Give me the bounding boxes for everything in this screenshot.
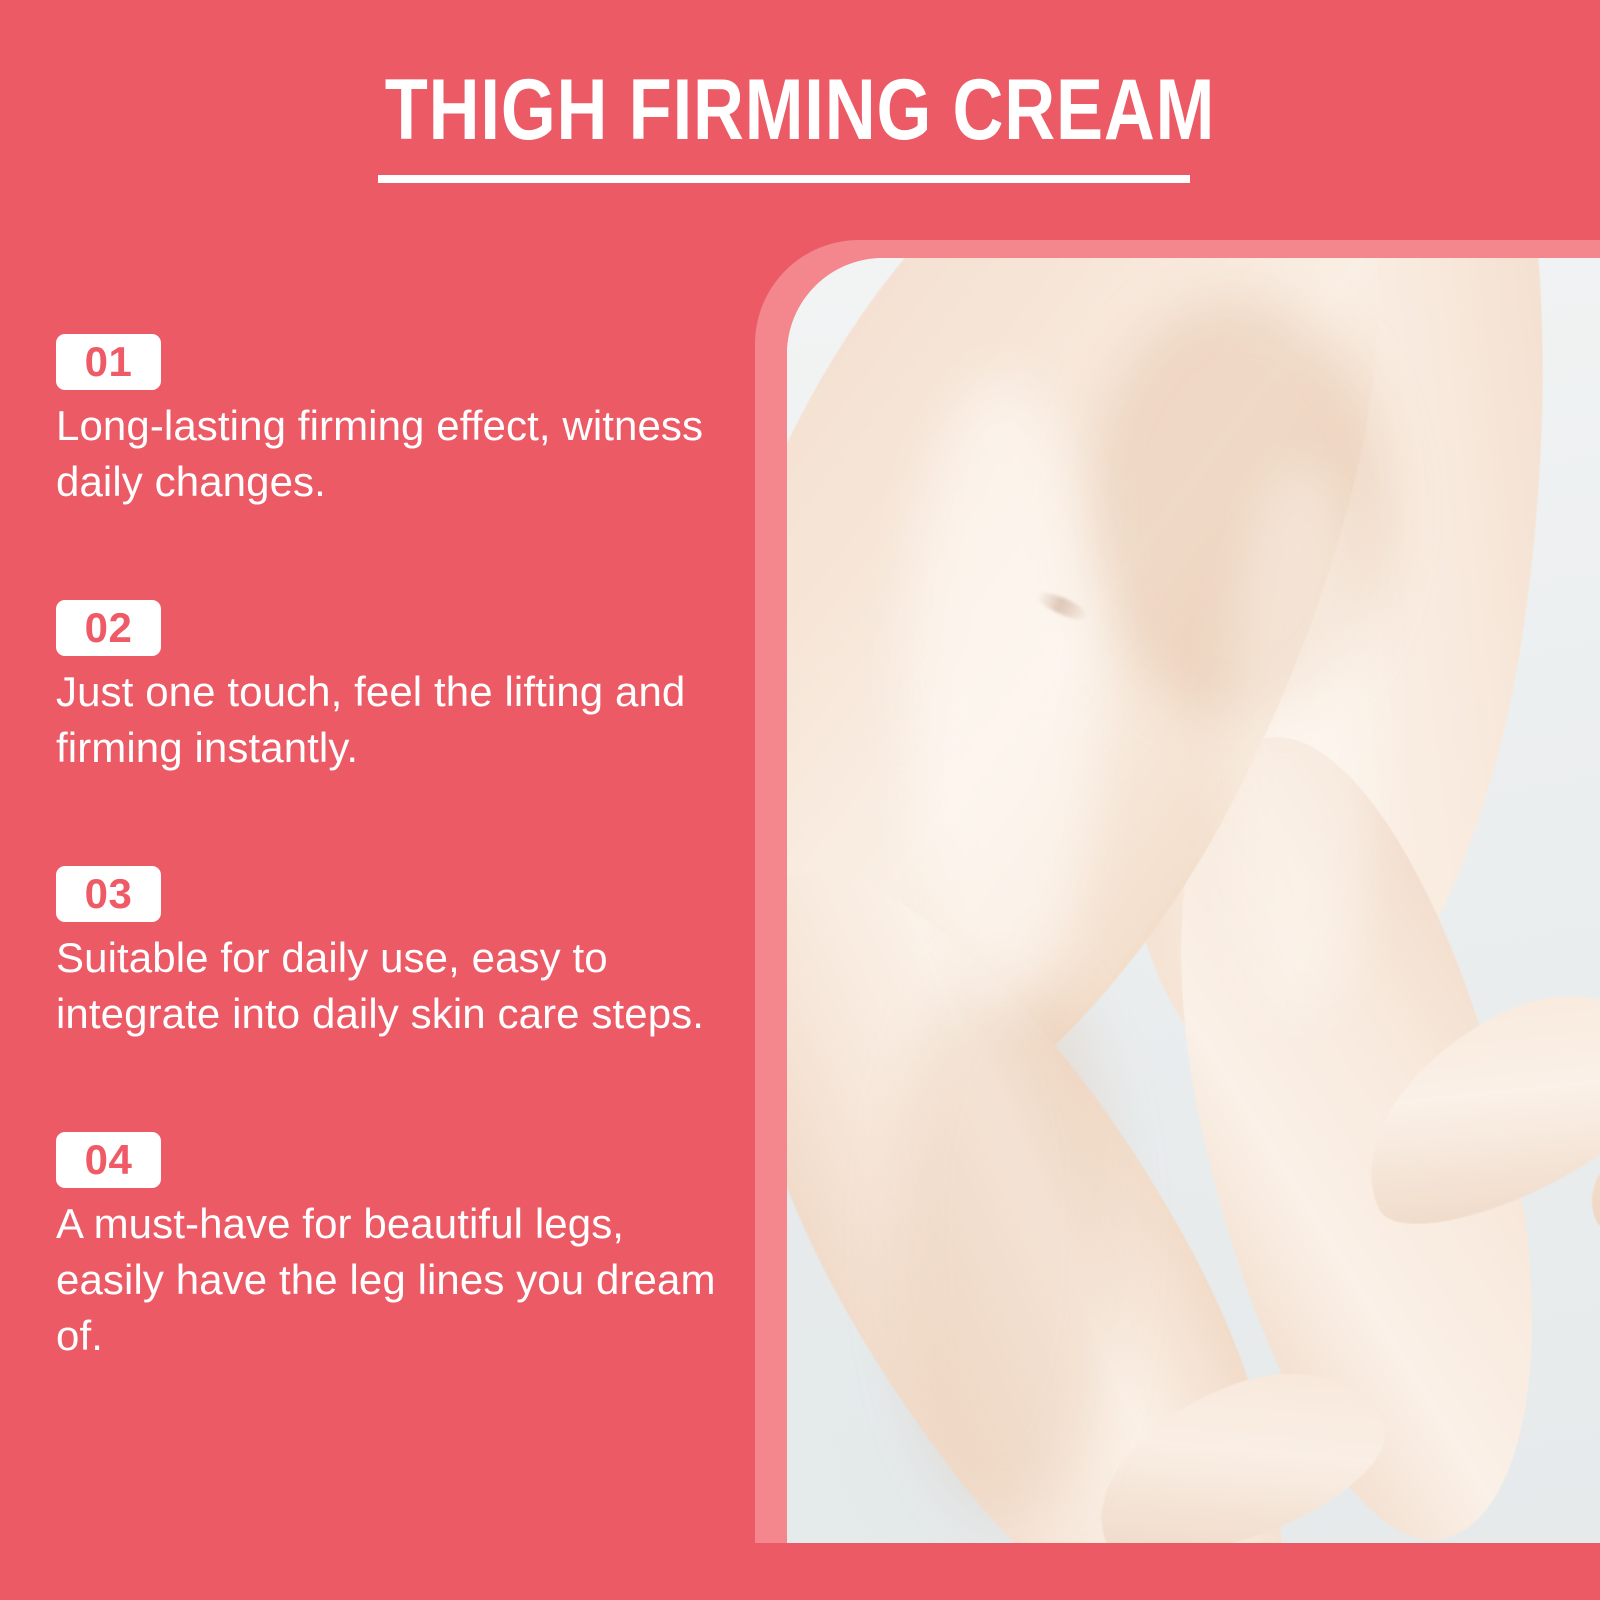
feature-number-badge: 03 <box>56 866 161 922</box>
feature-number-badge: 02 <box>56 600 161 656</box>
feature-description: A must-have for beautiful legs, easily h… <box>56 1196 716 1364</box>
feature-item-04: 04 A must-have for beautiful legs, easil… <box>56 1132 716 1364</box>
feature-number-badge: 04 <box>56 1132 161 1188</box>
feature-description: Suitable for daily use, easy to integrat… <box>56 930 716 1042</box>
feature-item-02: 02 Just one touch, feel the lifting and … <box>56 600 716 776</box>
header-band: THIGH FIRMING CREAM <box>0 0 1600 232</box>
product-feature-poster: THIGH FIRMING CREAM 01 Long-lasting firm… <box>0 0 1600 1600</box>
skin-shadow-lower <box>897 958 1117 1518</box>
product-photo-panel <box>787 258 1600 1543</box>
title-underline-rule <box>378 175 1190 183</box>
feature-description: Just one touch, feel the lifting and fir… <box>56 664 716 776</box>
feature-item-03: 03 Suitable for daily use, easy to integ… <box>56 866 716 1042</box>
feature-description: Long-lasting firming effect, witness dai… <box>56 398 716 510</box>
feature-number-badge: 01 <box>56 334 161 390</box>
page-title: THIGH FIRMING CREAM <box>144 62 1456 158</box>
feature-item-01: 01 Long-lasting firming effect, witness … <box>56 334 716 510</box>
skin-highlight-back <box>1227 458 1377 1018</box>
skin-highlight-front <box>907 378 1097 1018</box>
